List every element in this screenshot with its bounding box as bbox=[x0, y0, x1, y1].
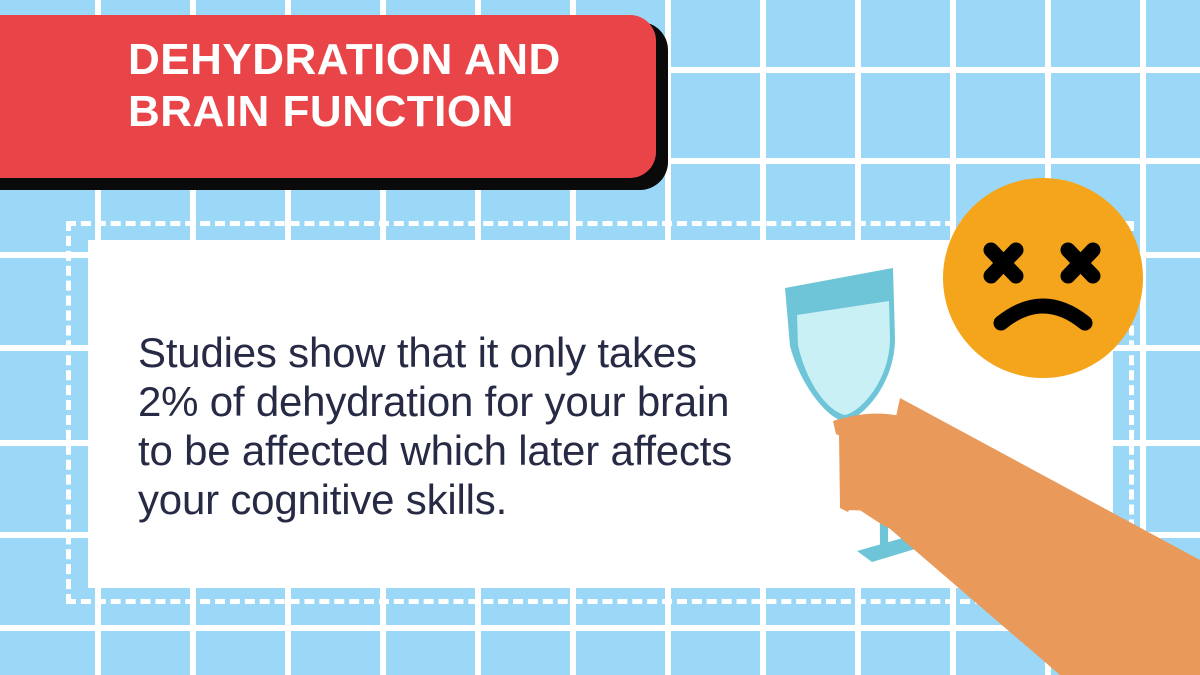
title-line-2: BRAIN FUNCTION bbox=[128, 86, 658, 138]
infographic-poster: Studies show that it only takes 2% of de… bbox=[0, 0, 1200, 675]
grid-line-vertical bbox=[1140, 0, 1146, 675]
body-text: Studies show that it only takes 2% of de… bbox=[138, 328, 758, 524]
page-title: DEHYDRATION AND BRAIN FUNCTION bbox=[128, 34, 658, 138]
grid-line-horizontal bbox=[0, 625, 1200, 631]
content-card: Studies show that it only takes 2% of de… bbox=[88, 240, 1113, 588]
title-line-1: DEHYDRATION AND bbox=[128, 34, 658, 86]
